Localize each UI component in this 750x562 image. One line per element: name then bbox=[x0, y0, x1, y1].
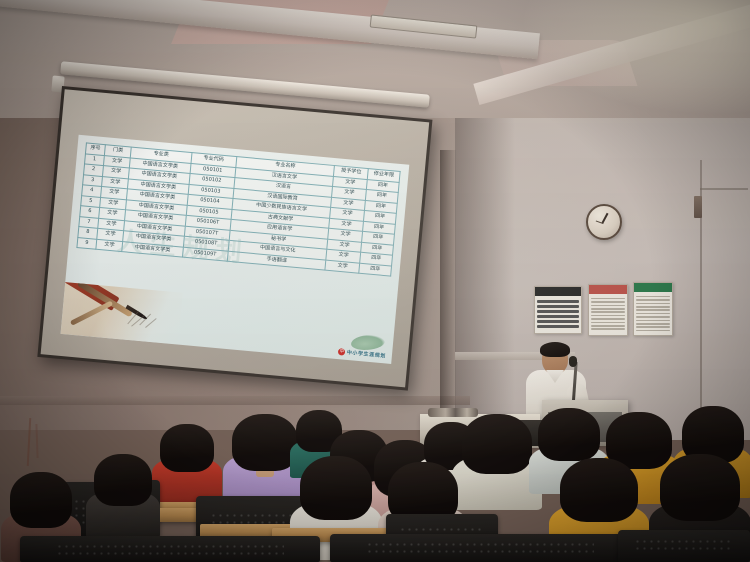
student-hair bbox=[300, 456, 372, 520]
door-hinge bbox=[694, 196, 702, 218]
projection-screen: 人生规划 序号 门类 专业类 专业代码 专业名称 授予学位 修业年限 bbox=[37, 86, 432, 391]
student-silhouette bbox=[160, 424, 214, 502]
student-silhouette bbox=[462, 414, 532, 510]
student-hair bbox=[538, 408, 600, 461]
cell-degree: 文学 bbox=[325, 260, 359, 274]
student-hair bbox=[232, 414, 298, 471]
seat-back-front-row bbox=[20, 536, 320, 562]
logo-leaf-icon bbox=[351, 334, 386, 351]
majors-table: 序号 门类 专业类 专业代码 专业名称 授予学位 修业年限 1文学中国语言文学类… bbox=[76, 142, 400, 277]
student-silhouette bbox=[232, 414, 298, 506]
seat-back-front-row bbox=[618, 530, 750, 562]
slide-logo: 中 中小学生涯规划 bbox=[338, 348, 386, 359]
microphone-icon bbox=[569, 356, 577, 367]
lecture-hall-photo: 人生规划 序号 门类 专业类 专业代码 专业名称 授予学位 修业年限 bbox=[0, 0, 750, 562]
poster-body bbox=[589, 294, 627, 334]
cell-no: 9 bbox=[77, 237, 97, 249]
wall-poster-red bbox=[588, 284, 628, 336]
student-hair bbox=[660, 454, 740, 521]
poster-body bbox=[634, 292, 672, 335]
wall-poster-green bbox=[633, 282, 673, 336]
poster-header bbox=[535, 287, 581, 296]
student-hair bbox=[94, 454, 152, 506]
ink-strokes-icon bbox=[123, 304, 165, 334]
student-hair bbox=[560, 458, 638, 522]
calligraphy-artwork bbox=[61, 282, 183, 344]
brush-second bbox=[70, 301, 113, 326]
student-hair bbox=[160, 424, 214, 472]
wall-edge-shadow bbox=[440, 150, 456, 410]
student-silhouette bbox=[94, 454, 152, 538]
poster-header bbox=[589, 285, 627, 294]
audience-area bbox=[0, 396, 750, 562]
logo-mark-icon: 中 bbox=[338, 348, 346, 356]
logo-text: 中小学生涯规划 bbox=[347, 349, 387, 360]
poster-body bbox=[535, 296, 581, 332]
presenter-hair bbox=[540, 342, 570, 357]
wall-clock-icon bbox=[586, 204, 622, 240]
window-glare bbox=[520, 0, 750, 115]
screen-surface: 人生规划 序号 门类 专业类 专业代码 专业名称 授予学位 修业年限 bbox=[41, 89, 430, 387]
cell-years: 四年 bbox=[359, 263, 392, 276]
door-frame-top bbox=[700, 188, 748, 190]
seat-back-front-row bbox=[330, 534, 630, 562]
student-hair bbox=[462, 414, 532, 474]
student-hair bbox=[10, 472, 72, 528]
wall-poster-dark bbox=[534, 286, 582, 334]
poster-header bbox=[634, 283, 672, 292]
cell-cat: 文学 bbox=[96, 239, 123, 252]
projected-slide: 人生规划 序号 门类 专业类 专业代码 专业名称 授予学位 修业年限 bbox=[61, 135, 410, 364]
